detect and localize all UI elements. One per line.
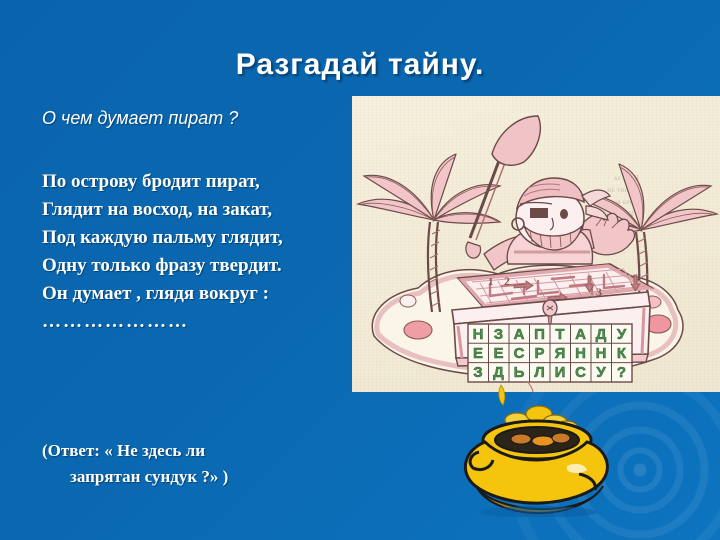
answer-line-2: запрятан сундук ?» ) (42, 464, 372, 490)
maze-number-2: 2 (504, 274, 510, 288)
svg-text:Д: Д (596, 326, 607, 343)
scanned-picture-panel: Иван за звенит ли Ворча все — У каждый (352, 96, 720, 392)
pirate-treasure-drawing: 1 2 3 (352, 96, 720, 392)
subtitle-question: О чем думает пират ? (42, 108, 342, 129)
svg-text:К: К (617, 345, 627, 362)
svg-text:Е: Е (493, 345, 503, 362)
svg-text:Я: Я (555, 345, 566, 362)
svg-text:А: А (575, 326, 586, 343)
svg-text:И: И (555, 364, 566, 381)
svg-text:Н: Н (596, 345, 607, 362)
svg-text:З: З (473, 364, 482, 381)
svg-text:Н: Н (473, 326, 484, 343)
page-title: Разгадай тайну. (0, 48, 720, 82)
svg-text:?: ? (617, 364, 626, 381)
svg-text:С: С (514, 345, 525, 362)
svg-text:С: С (575, 364, 586, 381)
answer-block: (Ответ: « Не здесь ли запрятан сундук ?»… (42, 438, 372, 490)
svg-text:З: З (494, 326, 503, 343)
poem-line-2: Глядит на восход, на закат, (42, 196, 362, 224)
letter-grid: НЗ АП ТА ДУ ЕЕ СР ЯН НК ЗД ЬЛ ИС У? (468, 324, 632, 382)
pot-of-gold (455, 392, 615, 517)
svg-text:Р: Р (534, 345, 544, 362)
svg-text:П: П (534, 326, 545, 343)
slide: Разгадай тайну. О чем думает пират ? По … (0, 0, 720, 540)
svg-text:Е: Е (473, 345, 483, 362)
svg-text:У: У (596, 364, 606, 381)
svg-text:Ь: Ь (514, 364, 525, 381)
svg-text:У: У (617, 326, 627, 343)
svg-text:А: А (514, 326, 525, 343)
pirate-figure (466, 116, 635, 270)
svg-text:Т: Т (555, 326, 564, 343)
poem-line-3: Под каждую пальму глядит, (42, 224, 362, 252)
svg-text:Н: Н (575, 345, 586, 362)
maze-number-1: 1 (488, 276, 494, 288)
poem-line-5: Он думает , глядя вокруг : (42, 280, 362, 308)
poem-line-4: Одну только фразу твердит. (42, 252, 362, 280)
poem-ellipsis: ………………… (42, 308, 362, 336)
poem-block: По острову бродит пират, Глядит на восхо… (42, 168, 362, 336)
answer-line-1: (Ответ: « Не здесь ли (42, 441, 205, 460)
svg-text:Л: Л (534, 364, 545, 381)
svg-text:Д: Д (493, 364, 504, 381)
poem-line-1: По острову бродит пират, (42, 168, 362, 196)
